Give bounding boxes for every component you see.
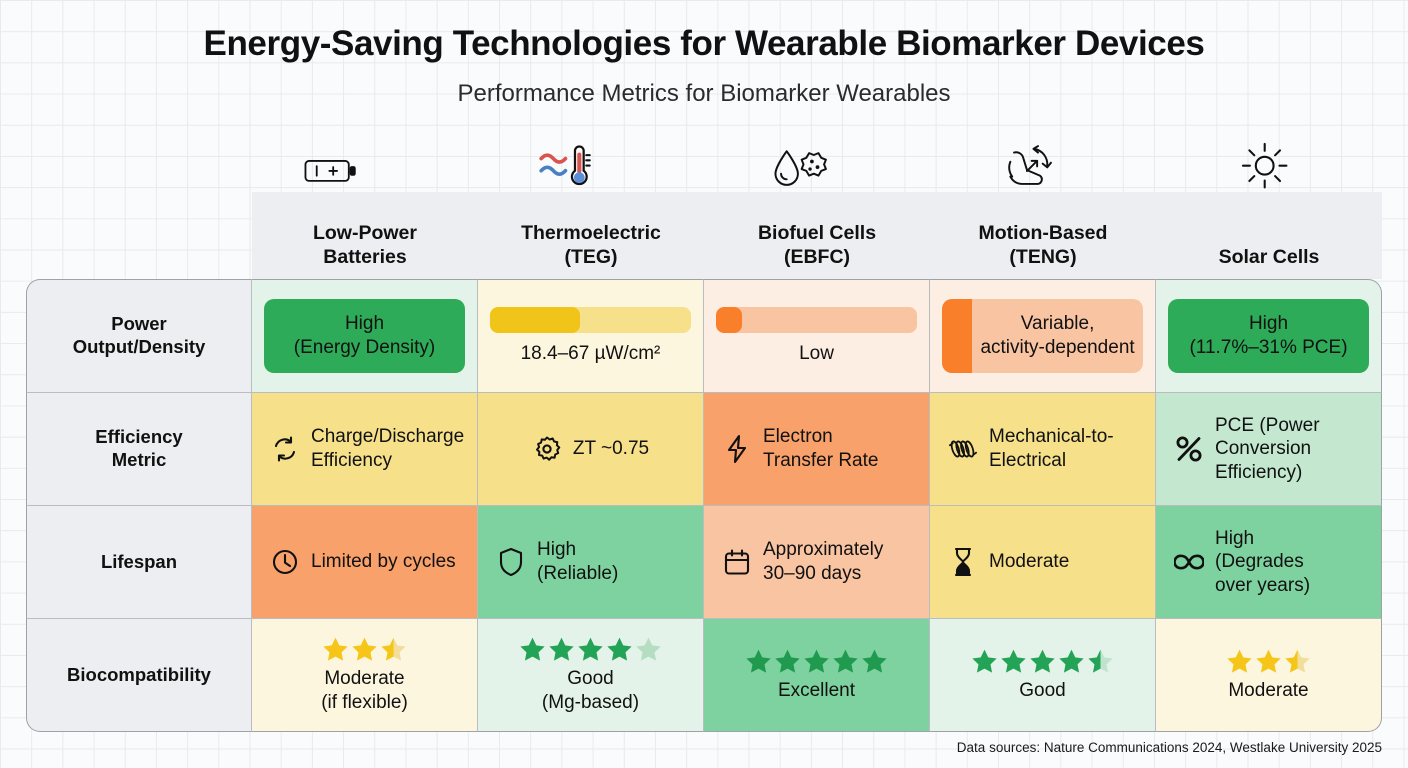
cell-text-line2: 30–90 days	[763, 562, 883, 586]
strip-line2: activity-dependent	[980, 336, 1134, 360]
table-body: PowerOutput/DensityHigh(Energy Density)1…	[26, 279, 1382, 732]
strip-line1: Variable,	[980, 312, 1134, 336]
lightning-bolt-icon	[722, 434, 752, 464]
chip-line2: (11.7%–31% PCE)	[1189, 336, 1347, 360]
table-cell-r4-c3: Excellent	[704, 619, 930, 732]
star-icon	[351, 636, 378, 662]
cell-text-line1: Charge/Discharge	[311, 425, 464, 449]
star-icon	[861, 648, 888, 674]
chip-line1: High	[294, 312, 436, 336]
cell-text-line1: High	[1215, 527, 1310, 551]
progress-bar-fill	[490, 307, 580, 333]
column-icon-5	[1148, 132, 1382, 190]
table-cell-r4-c4: Good	[930, 619, 1156, 732]
rating-line1: Excellent	[778, 679, 855, 703]
table-cell-r2-c4: Mechanical-to-Electrical	[930, 393, 1156, 506]
rating-group: Moderate(if flexible)	[264, 619, 465, 731]
table-head: Low-PowerBatteriesThermoelectric(TEG)Bio…	[26, 192, 1382, 279]
cell-text: Approximately30–90 days	[763, 538, 883, 585]
star-icon	[832, 648, 859, 674]
strip-text: Variable,activity-dependent	[972, 312, 1143, 361]
table-cell-r1-c2: 18.4–67 µW/cm²	[478, 279, 704, 393]
star-icon	[1029, 648, 1056, 674]
row-label-line2: Output/Density	[33, 336, 245, 359]
star-rating	[1226, 648, 1311, 674]
page-subtitle: Performance Metrics for Biomarker Wearab…	[0, 80, 1408, 108]
cell-text-line1: Moderate	[989, 550, 1069, 574]
star-icon	[774, 648, 801, 674]
progress-bar-track	[716, 307, 917, 333]
cell-text-line1: Limited by cycles	[311, 550, 456, 574]
column-header-2: Thermoelectric(TEG)	[478, 192, 704, 279]
sun-icon	[1240, 141, 1289, 190]
cell-text-line1: ZT ~0.75	[573, 437, 649, 461]
star-icon	[635, 636, 662, 662]
icon-strip-spacer	[26, 132, 214, 190]
motion-arm-icon	[1003, 143, 1060, 190]
column-header-label: Low-Power	[252, 222, 478, 246]
column-header-sublabel: Batteries	[252, 246, 478, 270]
star-rating	[745, 648, 888, 674]
star-icon	[745, 648, 772, 674]
table-cell-r3-c4: Moderate	[930, 506, 1156, 619]
column-header-sublabel: (TENG)	[930, 246, 1156, 270]
cell-text-line1: PCE (Power	[1215, 414, 1320, 438]
star-icon	[803, 648, 830, 674]
table-row: PowerOutput/DensityHigh(Energy Density)1…	[26, 279, 1382, 393]
star-rating	[519, 636, 662, 662]
cell-text-line3: over years)	[1215, 574, 1310, 598]
column-icon-strip	[26, 132, 1382, 190]
table-cell-r2-c1: Charge/DischargeEfficiency	[252, 393, 478, 506]
percent-icon	[1174, 434, 1204, 464]
table-row: EfficiencyMetric Charge/DischargeEfficie…	[26, 393, 1382, 506]
table-cell-r2-c2: ZT ~0.75	[478, 393, 704, 506]
rating-line1: Moderate	[321, 667, 408, 691]
cell-text-line2: Efficiency	[311, 449, 464, 473]
star-icon	[1255, 648, 1282, 674]
thermometer-waves-icon	[536, 143, 593, 190]
cell-text-line1: High	[537, 538, 618, 562]
cell-text-line2: Electrical	[989, 449, 1114, 473]
progress-bar-track	[490, 307, 691, 333]
column-header-sublabel: (EBFC)	[704, 246, 930, 270]
cell-text: ZT ~0.75	[573, 437, 649, 461]
star-icon	[1000, 648, 1027, 674]
table-cell-r3-c3: Approximately30–90 days	[704, 506, 930, 619]
comparison-table: Low-PowerBatteriesThermoelectric(TEG)Bio…	[26, 192, 1382, 732]
column-header-label: Solar Cells	[1156, 246, 1382, 270]
table-cell-r3-c2: High(Reliable)	[478, 506, 704, 619]
value-chip: High(Energy Density)	[264, 299, 465, 373]
strip-indicator	[942, 299, 972, 373]
rating-group: Good(Mg-based)	[490, 619, 691, 731]
row-label-line1: Biocompatibility	[33, 664, 245, 687]
rating-text: Moderate(if flexible)	[321, 667, 408, 715]
cell-text-line1: Approximately	[763, 538, 883, 562]
star-icon	[577, 636, 604, 662]
metric-bar-group: 18.4–67 µW/cm²	[490, 280, 691, 392]
cell-text: PCE (PowerConversionEfficiency)	[1215, 414, 1320, 485]
row-label-1: PowerOutput/Density	[26, 279, 252, 393]
cell-text-line3: Efficiency)	[1215, 461, 1320, 485]
metric-bar-group: Low	[716, 280, 917, 392]
rating-line2: (if flexible)	[321, 691, 408, 715]
star-icon	[971, 648, 998, 674]
rating-group: Moderate	[1168, 619, 1369, 731]
chip-line2: (Energy Density)	[294, 336, 436, 360]
icon-text-group: High(Reliable)	[490, 506, 691, 618]
column-icon-4	[915, 132, 1149, 190]
cell-text: ElectronTransfer Rate	[763, 425, 878, 472]
table-cell-r4-c2: Good(Mg-based)	[478, 619, 704, 732]
star-icon	[548, 636, 575, 662]
table-cell-r4-c1: Moderate(if flexible)	[252, 619, 478, 732]
cell-text: High(Degradesover years)	[1215, 527, 1310, 598]
icon-text-group: PCE (PowerConversionEfficiency)	[1168, 393, 1369, 505]
shield-icon	[496, 547, 526, 577]
column-header-label: Thermoelectric	[478, 222, 704, 246]
cell-text-line1: Electron	[763, 425, 878, 449]
cell-text-line2: Conversion	[1215, 437, 1320, 461]
table-cell-r2-c5: PCE (PowerConversionEfficiency)	[1156, 393, 1382, 506]
row-label-2: EfficiencyMetric	[26, 393, 252, 506]
rating-text: Moderate	[1228, 679, 1308, 703]
row-label-4: Biocompatibility	[26, 619, 252, 732]
icon-text-group: Limited by cycles	[264, 506, 465, 618]
rating-line1: Moderate	[1228, 679, 1308, 703]
icon-text-group: Mechanical-to-Electrical	[942, 393, 1143, 505]
column-icon-3	[681, 132, 915, 190]
table-header-row: Low-PowerBatteriesThermoelectric(TEG)Bio…	[26, 192, 1382, 279]
column-header-4: Motion-Based(TENG)	[930, 192, 1156, 279]
column-icon-2	[448, 132, 682, 190]
rating-line1: Good	[542, 667, 639, 691]
table-cell-r1-c4: Variable,activity-dependent	[930, 279, 1156, 393]
column-icon-1	[214, 132, 448, 190]
star-rating	[322, 636, 407, 662]
table-row: Biocompatibility Moderate(if flexible)Go…	[26, 619, 1382, 732]
icon-text-group: Charge/DischargeEfficiency	[264, 393, 465, 505]
value-chip-text: High(Energy Density)	[294, 312, 436, 361]
rating-group: Excellent	[716, 619, 917, 731]
column-header-sublabel: (TEG)	[478, 246, 704, 270]
icon-text-group: ElectronTransfer Rate	[716, 393, 917, 505]
refresh-cycle-icon	[270, 435, 300, 463]
progress-bar-label: Low	[799, 342, 834, 366]
table-cell-r2-c3: ElectronTransfer Rate	[704, 393, 930, 506]
page-title: Energy-Saving Technologies for Wearable …	[0, 24, 1408, 64]
star-rating	[971, 648, 1114, 674]
infographic-page: Energy-Saving Technologies for Wearable …	[0, 0, 1408, 768]
value-chip: High(11.7%–31% PCE)	[1168, 299, 1369, 373]
star-icon	[380, 636, 407, 662]
star-icon	[1284, 648, 1311, 674]
droplet-enzyme-icon	[768, 146, 828, 190]
star-icon	[1226, 648, 1253, 674]
column-header-label: Motion-Based	[930, 222, 1156, 246]
table-cell-r1-c1: High(Energy Density)	[252, 279, 478, 393]
hourglass-icon	[948, 547, 978, 577]
column-header-5: Solar Cells	[1156, 192, 1382, 279]
chip-line1: High	[1189, 312, 1347, 336]
table-corner-cell	[26, 192, 252, 279]
data-sources-footer: Data sources: Nature Communications 2024…	[957, 740, 1382, 755]
icon-text-group: Moderate	[942, 506, 1143, 618]
rating-text: Good	[1019, 679, 1065, 703]
value-chip-text: High(11.7%–31% PCE)	[1189, 312, 1347, 361]
progress-bar-fill	[716, 307, 742, 333]
icon-text-group: ZT ~0.75	[490, 393, 691, 505]
cell-text: Moderate	[989, 550, 1069, 574]
row-label-line1: Lifespan	[33, 551, 245, 574]
spring-coil-icon	[948, 436, 978, 462]
table-cell-r3-c5: High(Degradesover years)	[1156, 506, 1382, 619]
table-cell-r1-c3: Low	[704, 279, 930, 393]
table-cell-r3-c1: Limited by cycles	[252, 506, 478, 619]
calendar-icon	[722, 548, 752, 576]
rating-line1: Good	[1019, 679, 1065, 703]
infinity-icon	[1174, 551, 1204, 573]
table-cell-r4-c5: Moderate	[1156, 619, 1382, 732]
battery-icon	[302, 151, 359, 190]
rating-text: Good(Mg-based)	[542, 667, 639, 715]
row-label-line2: Metric	[33, 449, 245, 472]
rating-line2: (Mg-based)	[542, 691, 639, 715]
row-label-line1: Efficiency	[33, 426, 245, 449]
row-label-line1: Power	[33, 313, 245, 336]
star-icon	[1058, 648, 1085, 674]
value-strip-box: Variable,activity-dependent	[942, 299, 1143, 373]
cell-text: Mechanical-to-Electrical	[989, 425, 1114, 472]
cell-text-line2: Transfer Rate	[763, 449, 878, 473]
icon-text-group: Approximately30–90 days	[716, 506, 917, 618]
star-icon	[1087, 648, 1114, 674]
cell-text-line1: Mechanical-to-	[989, 425, 1114, 449]
column-header-label: Biofuel Cells	[704, 222, 930, 246]
cell-text: High(Reliable)	[537, 538, 618, 585]
icon-text-group: High(Degradesover years)	[1168, 506, 1369, 618]
cell-text: Charge/DischargeEfficiency	[311, 425, 464, 472]
table-row: Lifespan Limited by cycles High(Reliable…	[26, 506, 1382, 619]
rating-group: Good	[942, 619, 1143, 731]
star-icon	[606, 636, 633, 662]
row-label-3: Lifespan	[26, 506, 252, 619]
star-icon	[519, 636, 546, 662]
cell-text-line2: (Reliable)	[537, 562, 618, 586]
cell-text-line2: (Degrades	[1215, 550, 1310, 574]
progress-bar-label: 18.4–67 µW/cm²	[521, 342, 661, 366]
column-header-1: Low-PowerBatteries	[252, 192, 478, 279]
star-icon	[322, 636, 349, 662]
table-cell-r1-c5: High(11.7%–31% PCE)	[1156, 279, 1382, 393]
gear-icon	[532, 435, 562, 463]
cell-text: Limited by cycles	[311, 550, 456, 574]
rating-text: Excellent	[778, 679, 855, 703]
clock-icon	[270, 548, 300, 576]
column-header-3: Biofuel Cells(EBFC)	[704, 192, 930, 279]
